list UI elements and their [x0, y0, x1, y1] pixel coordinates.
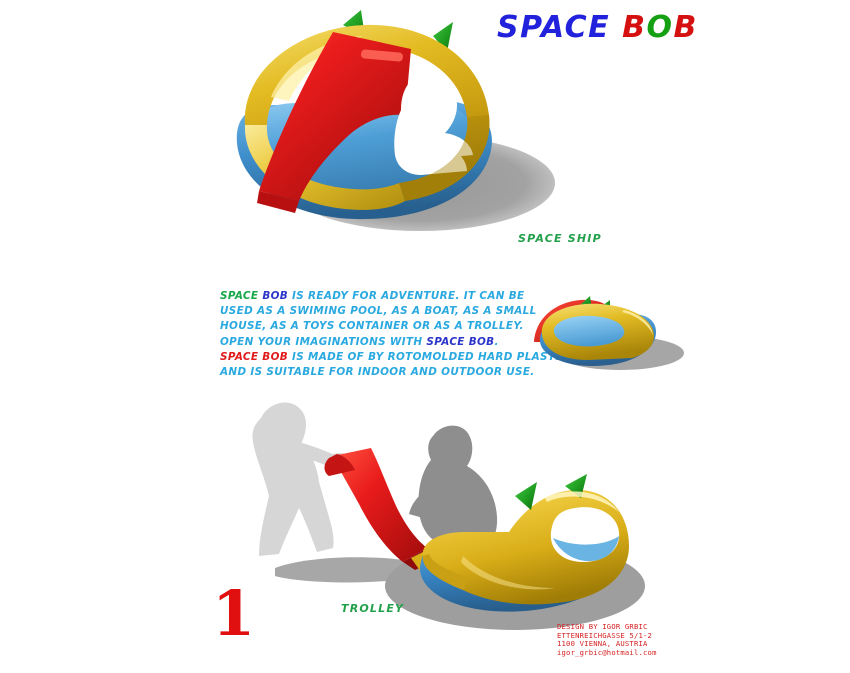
caption-trolley: TROLLEY	[341, 602, 404, 615]
pool-boat-render	[528, 280, 698, 375]
poster-page: SPACE BOB SPACE SHIP SPACE BOB IS READY …	[0, 0, 850, 673]
desc-text: AND IS SUITABLE FOR INDOOR AND OUTDOOR U…	[220, 366, 535, 378]
description-line: USED AS A SWIMING POOL, AS A BOAT, AS A …	[220, 304, 520, 319]
desc-text: .	[494, 336, 498, 348]
credits-block: DESIGN BY IGOR GRBIC ETTENREICHGASSE 5/1…	[557, 623, 657, 657]
desc-spacebob-word: SPACE BOB	[426, 336, 494, 348]
desc-bob-word: BOB	[262, 290, 292, 302]
page-title: SPACE BOB	[497, 10, 698, 45]
desc-text: IS READY FOR ADVENTURE. IT CAN BE	[292, 290, 524, 302]
page-number: 1	[212, 583, 255, 645]
title-letter-b2: B	[674, 10, 698, 45]
child-silhouette-seated	[419, 426, 498, 544]
title-letter-o: O	[646, 10, 673, 45]
desc-text: USED AS A SWIMING POOL, AS A BOAT, AS A …	[220, 305, 537, 317]
description-line: SPACE BOB IS READY FOR ADVENTURE. IT CAN…	[220, 289, 520, 304]
credit-line-email: igor_grbic@hotmail.com	[557, 649, 657, 658]
desc-spacebob-word-red: SPACE BOB	[220, 351, 292, 363]
caption-space-ship: SPACE SHIP	[518, 232, 602, 245]
child-silhouette-pulling	[252, 403, 333, 556]
trolley-render	[225, 390, 645, 640]
description-line: OPEN YOUR IMAGINATIONS WITH SPACE BOB.	[220, 335, 520, 350]
description-line: SPACE BOB IS MADE OF BY ROTOMOLDED HARD …	[220, 350, 520, 365]
description-line: AND IS SUITABLE FOR INDOOR AND OUTDOOR U…	[220, 365, 520, 380]
description-block: SPACE BOB IS READY FOR ADVENTURE. IT CAN…	[220, 289, 520, 380]
description-line: HOUSE, AS A TOYS CONTAINER OR AS A TROLL…	[220, 319, 520, 334]
desc-text: IS MADE OF BY ROTOMOLDED HARD PLASTIC	[292, 351, 568, 363]
desc-text: HOUSE, AS A TOYS CONTAINER OR AS A TROLL…	[220, 320, 524, 332]
title-word-space: SPACE	[497, 10, 610, 45]
desc-text: OPEN YOUR IMAGINATIONS WITH	[220, 336, 426, 348]
title-letter-b1: B	[622, 10, 646, 45]
space-ship-render	[215, 5, 545, 240]
desc-space-word: SPACE	[220, 290, 262, 302]
